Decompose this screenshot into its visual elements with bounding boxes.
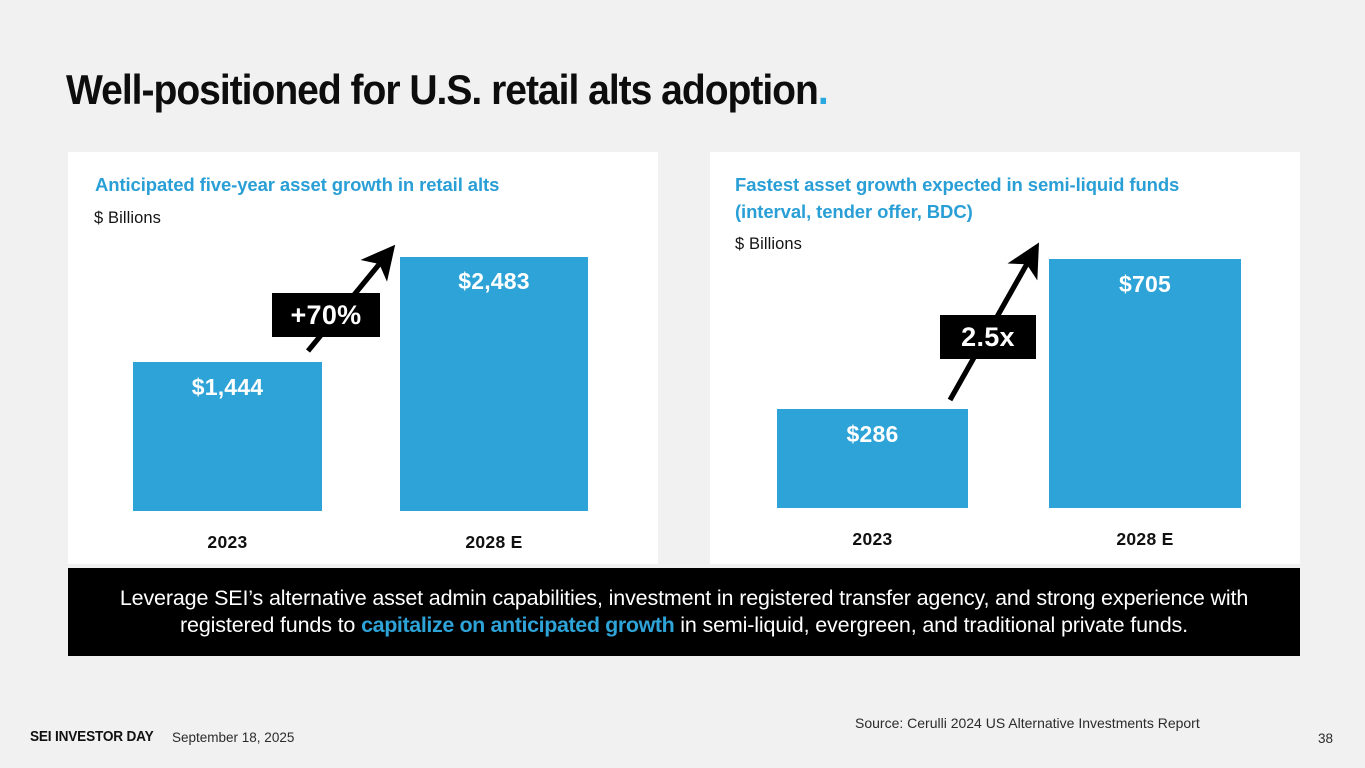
chart-card-left: Anticipated five-year asset growth in re…	[68, 152, 658, 564]
footer-date: September 18, 2025	[172, 730, 294, 745]
chart-left-category-2028: 2028 E	[400, 532, 588, 553]
footer-brand-logo: SEI INVESTOR DAY	[30, 729, 153, 745]
slide-canvas: Well-positioned for U.S. retail alts ado…	[0, 0, 1365, 768]
bar-right-2023-value: $286	[777, 421, 968, 448]
chart-right-category-2023: 2023	[777, 529, 968, 550]
page-title-text: Well-positioned for U.S. retail alts ado…	[66, 66, 818, 113]
key-takeaway-highlight: capitalize on anticipated growth	[361, 613, 674, 637]
bar-left-2028[interactable]	[400, 257, 588, 511]
chart-card-right: Fastest asset growth expected in semi-li…	[710, 152, 1300, 564]
footer-source-note: Source: Cerulli 2024 US Alternative Inve…	[855, 715, 1200, 731]
key-takeaway-text: Leverage SEI’s alternative asset admin c…	[68, 585, 1300, 640]
key-takeaway-part2: in semi-liquid, evergreen, and tradition…	[674, 613, 1188, 637]
bar-right-2028-value: $705	[1049, 271, 1241, 298]
chart-left-category-2023: 2023	[133, 532, 322, 553]
bar-left-2028-value: $2,483	[400, 268, 588, 295]
page-title: Well-positioned for U.S. retail alts ado…	[66, 68, 828, 112]
bar-left-2023-value: $1,444	[133, 374, 322, 401]
chart-left-growth-badge: +70%	[272, 293, 380, 337]
title-accent-period: .	[818, 66, 828, 113]
key-takeaway-banner: Leverage SEI’s alternative asset admin c…	[68, 568, 1300, 656]
footer-page-number: 38	[1318, 731, 1333, 746]
chart-left-plot: $1,444 $2,483 2023 2028 E +70%	[68, 152, 658, 564]
chart-right-category-2028: 2028 E	[1049, 529, 1241, 550]
chart-right-plot: $286 $705 2023 2028 E 2.5x	[710, 152, 1300, 564]
chart-right-multiple-badge: 2.5x	[940, 315, 1036, 359]
